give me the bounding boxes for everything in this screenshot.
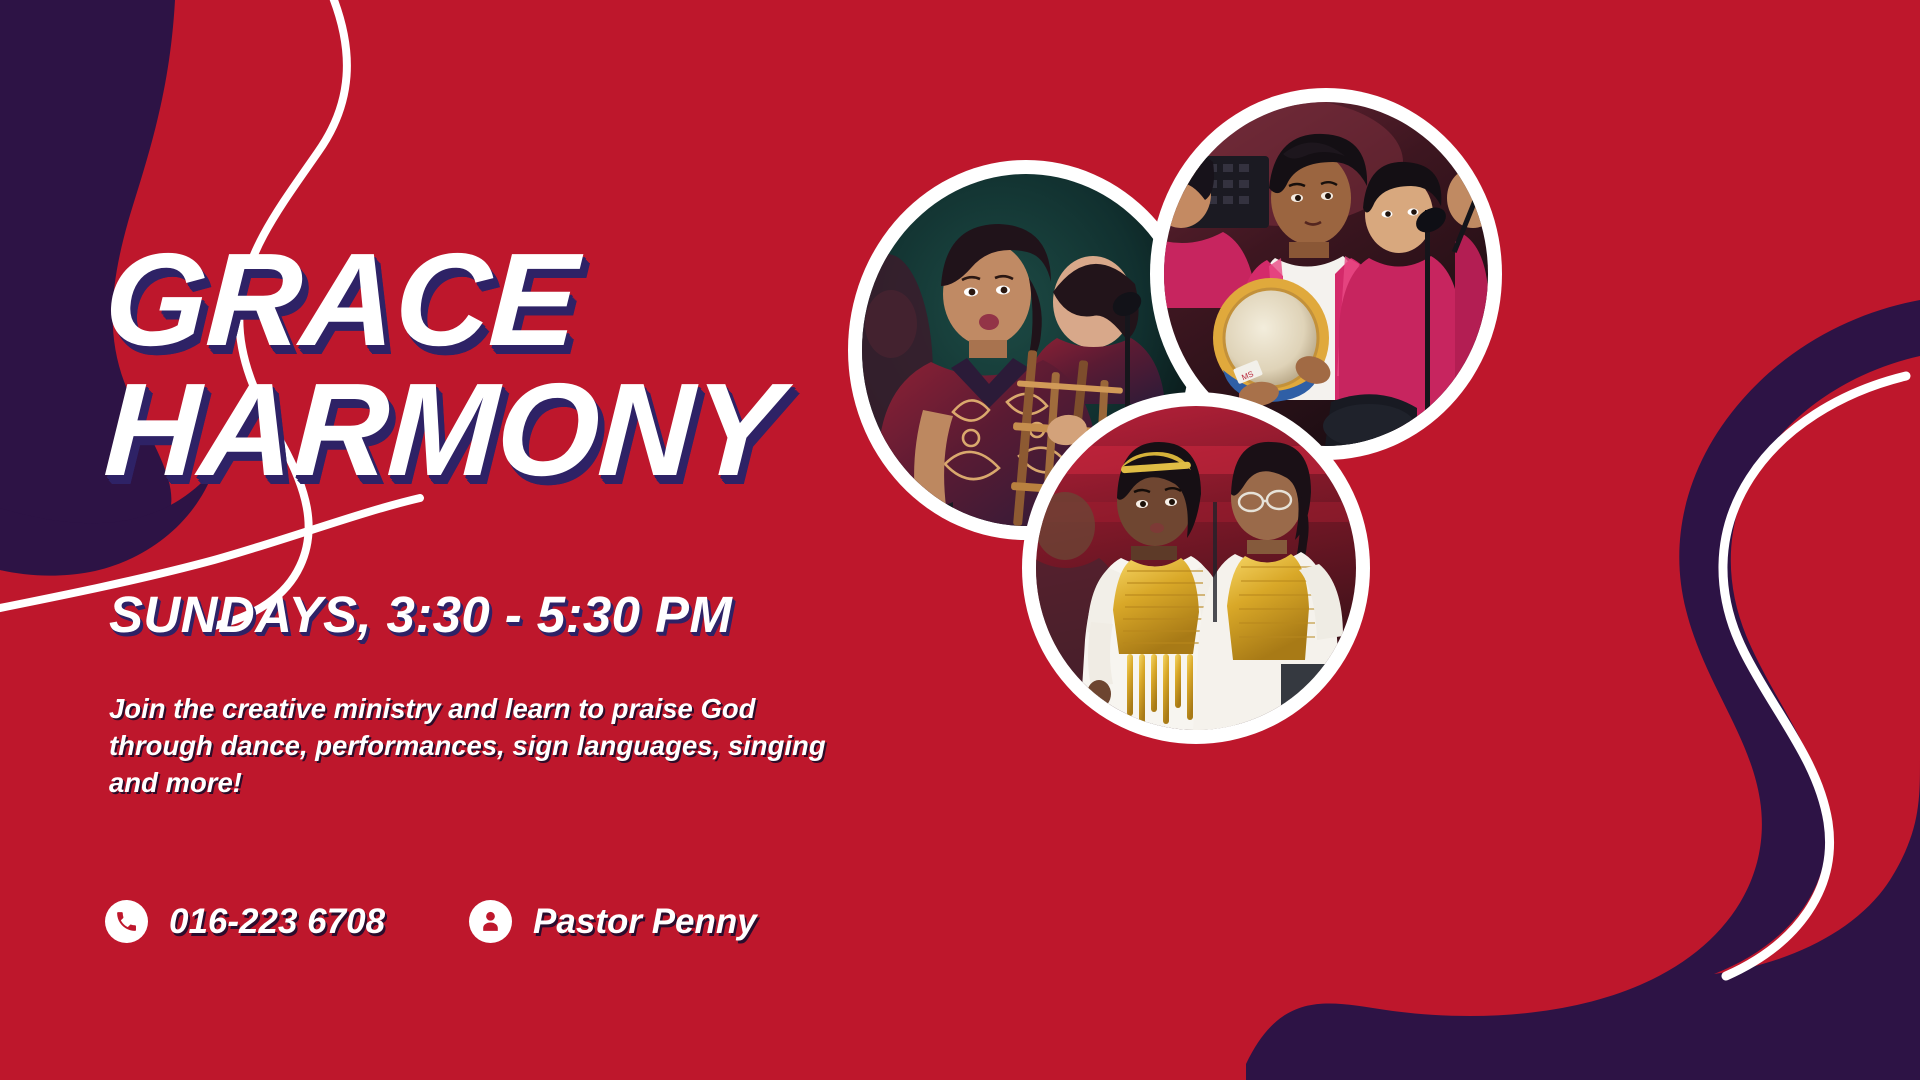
person-name: Pastor Penny [533,902,757,942]
contact-row: 016-223 6708 Pastor Penny [105,900,757,943]
person-icon [469,900,512,943]
photo-gold-dancers-illustration [1036,406,1356,730]
page-title: GRACE HARMONY [105,238,1005,492]
phone-icon [105,900,148,943]
description-text: Join the creative ministry and learn to … [109,690,829,801]
photo-gold-dancers [1022,392,1370,744]
photo-gold-dancers-image [1036,406,1356,730]
schedule-text: SUNDAYS, 3:30 - 5:30 PM [109,585,732,644]
text-content: GRACE HARMONY SUNDAYS, 3:30 - 5:30 PM Jo… [105,0,945,1080]
contact-person[interactable]: Pastor Penny [469,900,757,943]
title-line-grace: GRACE [102,238,1009,362]
promotional-poster: MS [0,0,1920,1080]
title-line-harmony: HARMONY [102,368,1009,492]
phone-number: 016-223 6708 [169,902,385,942]
contact-phone[interactable]: 016-223 6708 [105,900,385,943]
